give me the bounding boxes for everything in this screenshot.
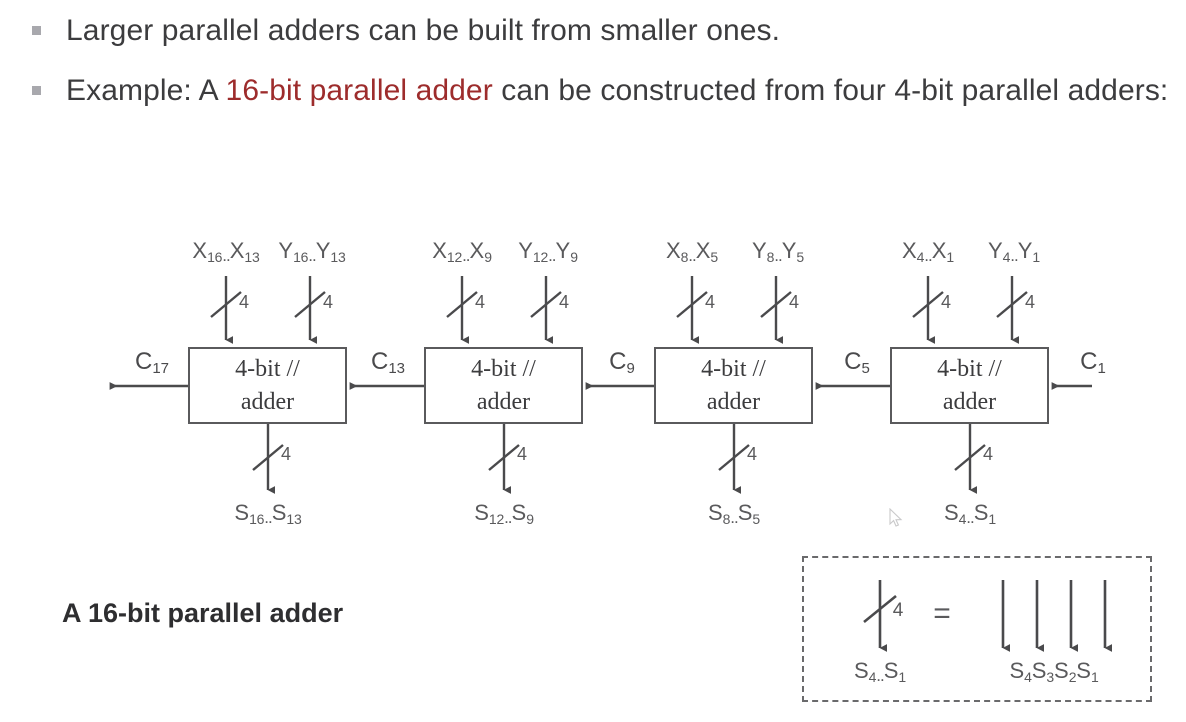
- label-s8-s5: S8..S5: [708, 500, 760, 526]
- adder-label-line1: 4-bit //: [235, 353, 300, 386]
- bus-width-tag: 4: [323, 292, 333, 313]
- adder-label-line2: adder: [241, 386, 294, 419]
- bus-width-tag: 4: [983, 444, 993, 465]
- bus-width-tag: 4: [475, 292, 485, 313]
- label-s4-s1: S4..S1: [944, 500, 996, 526]
- legend-bus-width-tag: 4: [893, 600, 904, 622]
- legend-left-label: S4..S1: [854, 658, 906, 684]
- adder-label-line1: 4-bit //: [937, 353, 1002, 386]
- bus-width-tag: 4: [517, 444, 527, 465]
- adder-label-line2: adder: [943, 386, 996, 419]
- bus-width-tag: 4: [559, 292, 569, 313]
- label-x8-x5: X8..X5: [666, 238, 718, 264]
- input-bus-x4: [913, 276, 943, 340]
- label-y8-y5: Y8..Y5: [752, 238, 804, 264]
- adder-block-2[interactable]: 4-bit // adder: [654, 347, 813, 424]
- adder-block-3[interactable]: 4-bit // adder: [424, 347, 583, 424]
- output-bus-s12: [489, 424, 519, 490]
- output-bus-s4: [955, 424, 985, 490]
- label-s16-s13: S16..S13: [234, 500, 301, 526]
- label-x12-x9: X12..X9: [432, 238, 492, 264]
- carry-label-c1: C1: [1080, 348, 1106, 376]
- bus-width-tag: 4: [281, 444, 291, 465]
- adder-label-line1: 4-bit //: [471, 353, 536, 386]
- adder-label-line2: adder: [477, 386, 530, 419]
- bus-width-tag: 4: [789, 292, 799, 313]
- label-x4-x1: X4..X1: [902, 238, 954, 264]
- adder-label-line2: adder: [707, 386, 760, 419]
- mouse-cursor-icon: [889, 508, 903, 528]
- legend-equals-sign: =: [933, 597, 951, 631]
- label-y12-y9: Y12..Y9: [518, 238, 578, 264]
- input-bus-y16: [295, 276, 325, 340]
- carry-label-c13: C13: [371, 348, 405, 376]
- adder-label-line1: 4-bit //: [701, 353, 766, 386]
- output-bus-s16: [253, 424, 283, 490]
- label-s12-s9: S12..S9: [474, 500, 534, 526]
- legend-right-labels: S4S3S2S1: [1009, 658, 1098, 684]
- carry-label-c5: C5: [844, 348, 870, 376]
- bus-width-tag: 4: [705, 292, 715, 313]
- carry-label-c17: C17: [135, 348, 169, 376]
- adder-block-4[interactable]: 4-bit // adder: [188, 347, 347, 424]
- bus-width-tag: 4: [941, 292, 951, 313]
- carry-label-c9: C9: [609, 348, 635, 376]
- label-y16-y13: Y16..Y13: [278, 238, 345, 264]
- bus-width-tag: 4: [239, 292, 249, 313]
- label-x16-x13: X16..X13: [192, 238, 259, 264]
- output-buses: [253, 424, 985, 490]
- input-bus-y8: [761, 276, 791, 340]
- diagram-caption: A 16-bit parallel adder: [62, 598, 343, 629]
- label-y4-y1: Y4..Y1: [988, 238, 1040, 264]
- input-bus-y4: [997, 276, 1027, 340]
- bus-width-tag: 4: [1025, 292, 1035, 313]
- output-bus-s8: [719, 424, 749, 490]
- bus-width-tag: 4: [747, 444, 757, 465]
- input-buses: [211, 276, 1027, 340]
- adder-block-1[interactable]: 4-bit // adder: [890, 347, 1049, 424]
- input-bus-y12: [531, 276, 561, 340]
- input-bus-x16: [211, 276, 241, 340]
- input-bus-x8: [677, 276, 707, 340]
- input-bus-x12: [447, 276, 477, 340]
